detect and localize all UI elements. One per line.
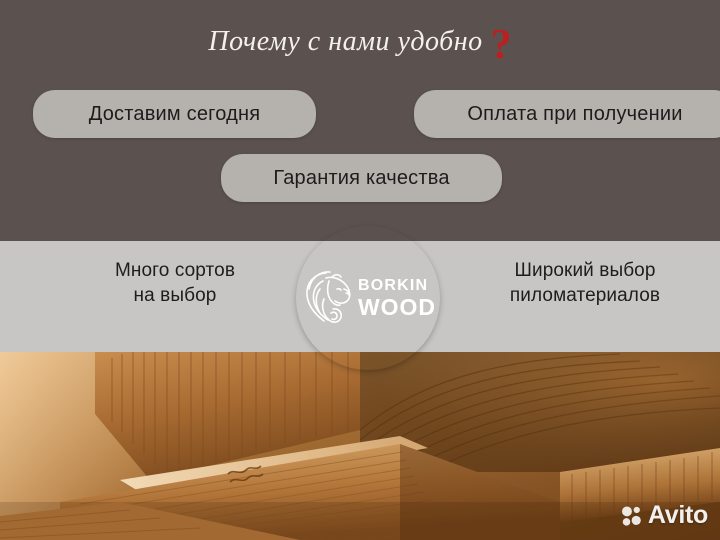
feature-text-left-line1: Много сортов xyxy=(55,258,295,283)
brand-name-bottom: WOOD xyxy=(358,296,436,319)
avito-watermark: Avito xyxy=(621,501,708,530)
lion-head-icon xyxy=(304,269,354,327)
question-mark-icon: ? xyxy=(491,22,512,68)
avito-dots-icon xyxy=(621,505,643,527)
brand-name-top: BORKIN xyxy=(358,278,436,294)
feature-text-left: Много сортов на выбор xyxy=(55,258,295,308)
benefit-pill-label: Оплата при получении xyxy=(467,103,682,126)
page-title-text: Почему с нами удобно xyxy=(208,26,482,57)
feature-text-right: Широкий выбор пиломатериалов xyxy=(465,258,705,308)
advert-banner: Почему с нами удобно? Доставим сегодня О… xyxy=(0,0,720,540)
brand-logo-badge[interactable]: BORKIN WOOD xyxy=(296,226,440,370)
feature-text-right-line2: пиломатериалов xyxy=(465,283,705,308)
benefit-pill-label: Гарантия качества xyxy=(273,167,449,190)
page-title: Почему с нами удобно? xyxy=(0,18,720,66)
feature-text-right-line1: Широкий выбор xyxy=(465,258,705,283)
lumber-photo xyxy=(0,352,720,540)
benefit-pill-delivery[interactable]: Доставим сегодня xyxy=(33,90,316,138)
feature-text-left-line2: на выбор xyxy=(55,283,295,308)
avito-label: Avito xyxy=(648,501,708,530)
lumber-photo-art xyxy=(0,352,720,540)
benefit-pill-payment[interactable]: Оплата при получении xyxy=(414,90,720,138)
benefit-pill-quality[interactable]: Гарантия качества xyxy=(221,154,502,202)
benefit-pill-label: Доставим сегодня xyxy=(89,103,260,126)
